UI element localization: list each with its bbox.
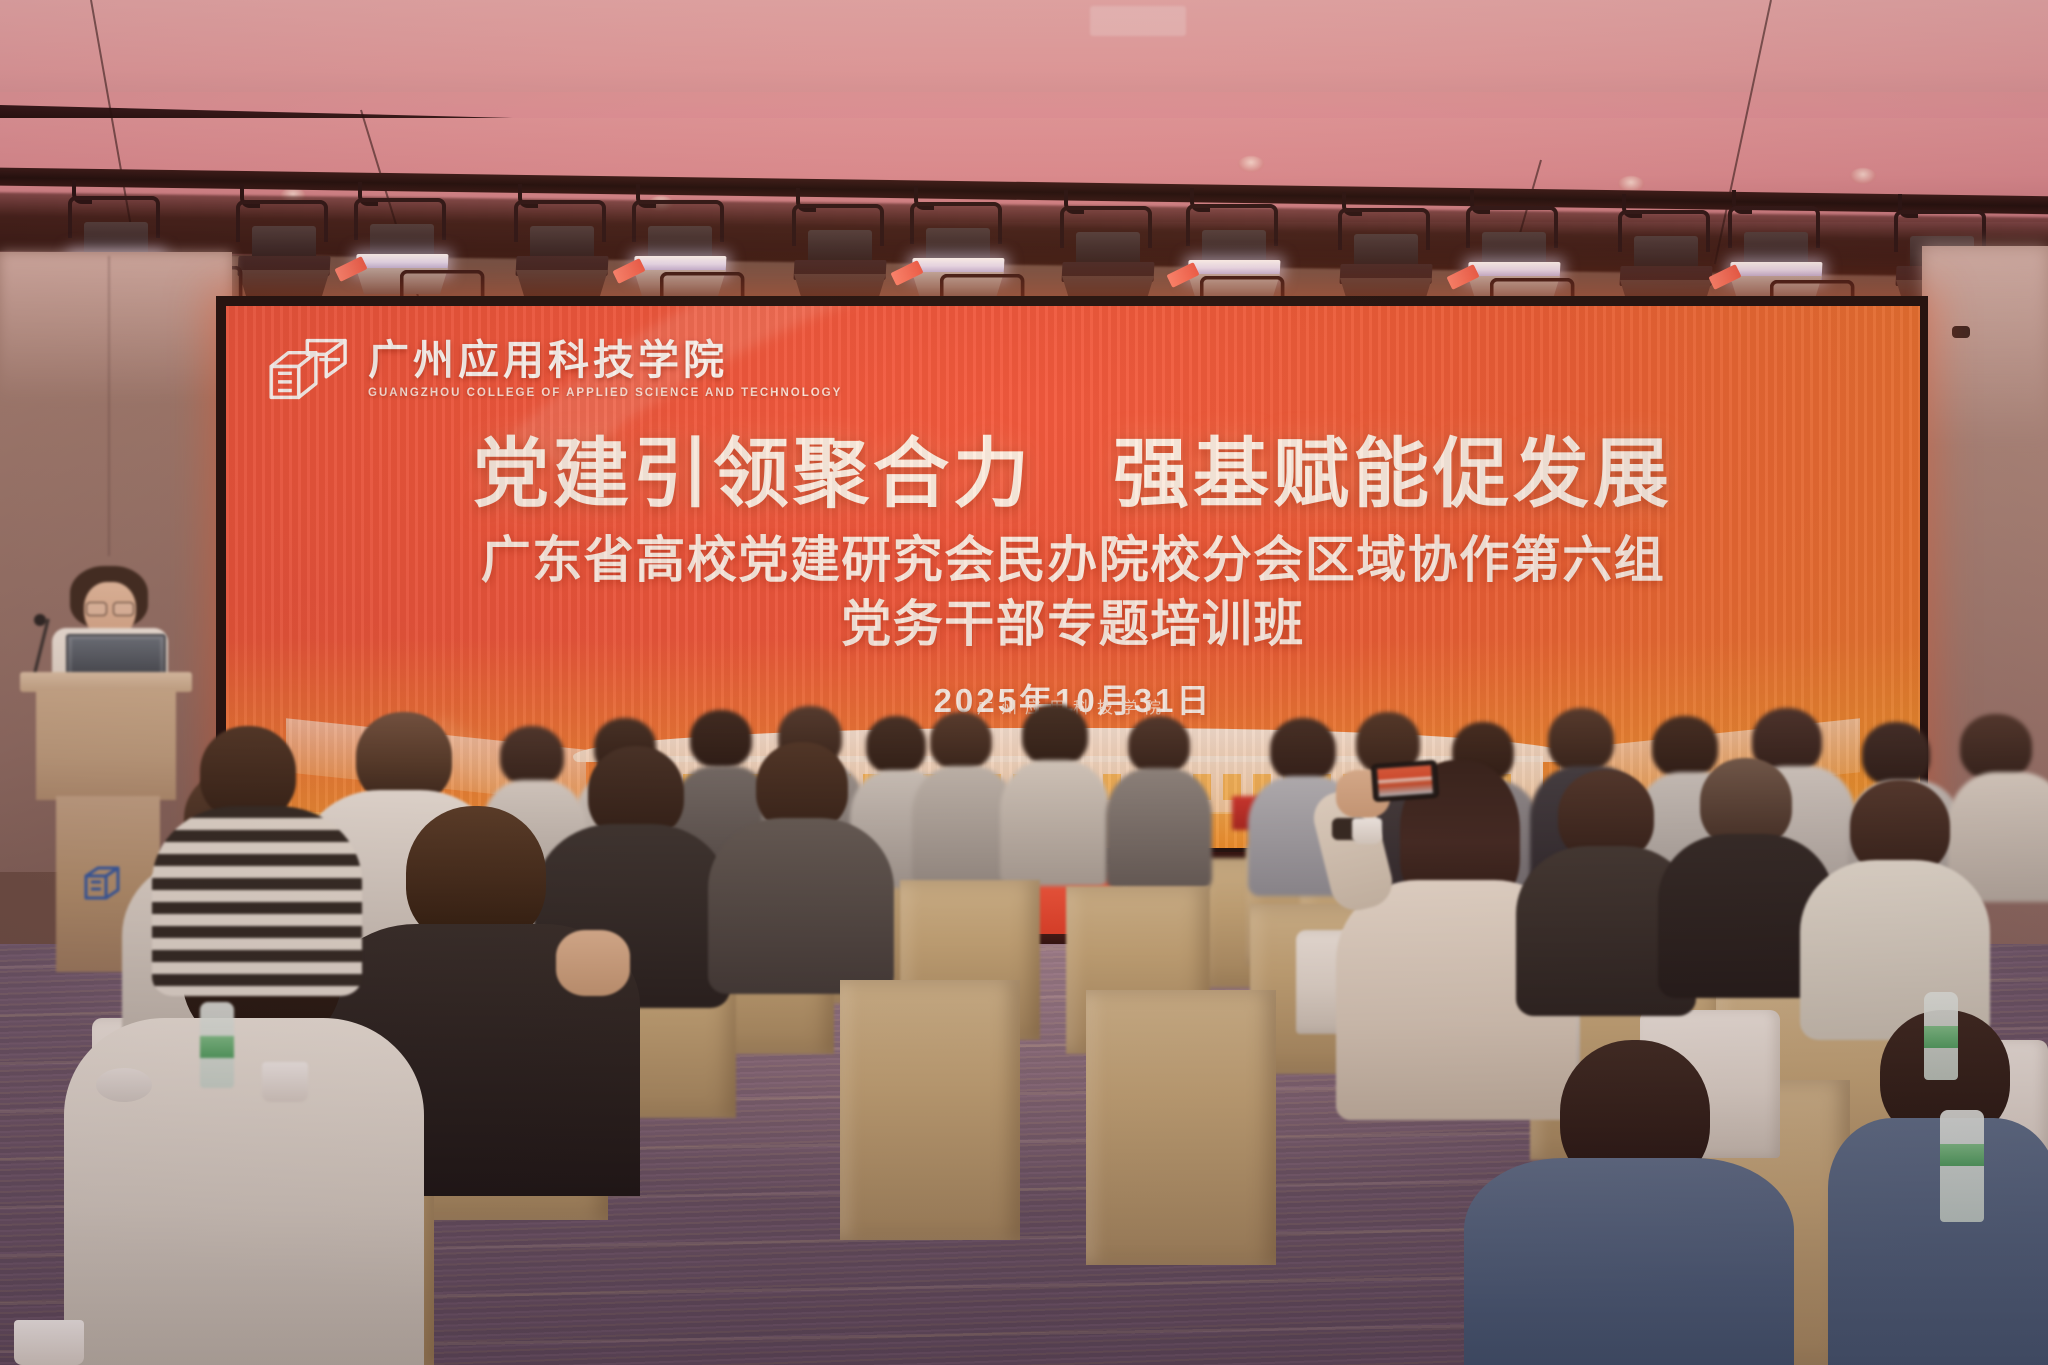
lectern-face (36, 690, 176, 800)
audience-head (1548, 708, 1614, 772)
hair-tie (96, 1068, 152, 1102)
guangzhou-college-cube-logo-icon (266, 332, 352, 406)
stage-light (508, 200, 616, 296)
audience-head (866, 716, 926, 774)
school-name-english: GUANGZHOU COLLEGE OF APPLIED SCIENCE AND… (368, 387, 842, 399)
audience-torso (708, 818, 894, 994)
downlight (1850, 168, 1876, 184)
wall-spotlight (1952, 326, 1970, 338)
audience-head (1652, 716, 1718, 778)
stage-light (786, 204, 894, 300)
phone-screen (1377, 765, 1433, 797)
ceiling-soffit (0, 0, 2048, 92)
smartphone-recording[interactable] (1371, 760, 1439, 803)
stage-light (1054, 206, 1162, 302)
event-subtitle-line-1: 广东省高校党建研究会民办院校分会区域协作第六组 (226, 528, 1920, 592)
wall-seam (108, 256, 110, 556)
lectern-top (20, 672, 192, 692)
gold-table-skirt (1086, 990, 1276, 1265)
stage-light (1612, 210, 1720, 306)
audience-head (1022, 704, 1088, 766)
school-logo-lockup: 广州应用科技学院 GUANGZHOU COLLEGE OF APPLIED SC… (266, 332, 842, 406)
audience-head (1960, 714, 2032, 780)
conference-hall-photo: 广州应用科技学院 GUANGZHOU COLLEGE OF APPLIED SC… (0, 0, 2048, 1365)
blue-cube-emblem-icon (82, 860, 126, 904)
school-logo-text: 广州应用科技学院 GUANGZHOU COLLEGE OF APPLIED SC… (368, 340, 842, 399)
audience-head (500, 726, 564, 786)
school-name-chinese: 广州应用科技学院 (368, 340, 842, 381)
tea-cup[interactable] (14, 1320, 84, 1365)
bottle-label (1924, 1026, 1958, 1048)
audience-head (1128, 716, 1190, 774)
tea-cup[interactable] (262, 1062, 308, 1102)
audience-torso (1106, 768, 1212, 890)
eyeglass-lens (113, 602, 134, 616)
ceiling-vent (1090, 6, 1186, 36)
microphone-head-icon (34, 614, 46, 626)
eyeglass-lens (86, 602, 107, 616)
downlight (1238, 156, 1264, 172)
water-bottle[interactable] (1940, 1110, 1984, 1222)
event-subtitle: 广东省高校党建研究会民办院校分会区域协作第六组 党务干部专题培训班 (226, 528, 1920, 656)
stage-light (1332, 208, 1440, 304)
tea-cup[interactable] (1352, 818, 1382, 844)
audience-torso (1828, 1118, 2048, 1365)
right-wall-glow (1922, 246, 2048, 446)
audience-torso-striped (152, 806, 362, 996)
left-wall-glow (0, 252, 232, 402)
barn-door (512, 270, 612, 296)
audience-head (1862, 722, 1930, 786)
gold-table-skirt (840, 980, 1020, 1240)
audience-head (690, 710, 752, 768)
bottle-label (1940, 1144, 1984, 1166)
audience-ear (556, 930, 630, 996)
laptop-screen (72, 639, 160, 673)
audience-head (930, 712, 992, 770)
water-bottle[interactable] (1924, 992, 1958, 1080)
audience-head (1270, 718, 1336, 782)
bottle-label (200, 1036, 234, 1058)
water-bottle[interactable] (200, 1002, 234, 1088)
event-main-title: 党建引领聚合力 强基赋能促发展 (226, 412, 1920, 522)
eyeglasses-icon (86, 602, 134, 614)
audience-torso (1000, 760, 1110, 886)
event-subtitle-line-2: 党务干部专题培训班 (226, 592, 1920, 656)
audience-torso (1464, 1158, 1794, 1365)
